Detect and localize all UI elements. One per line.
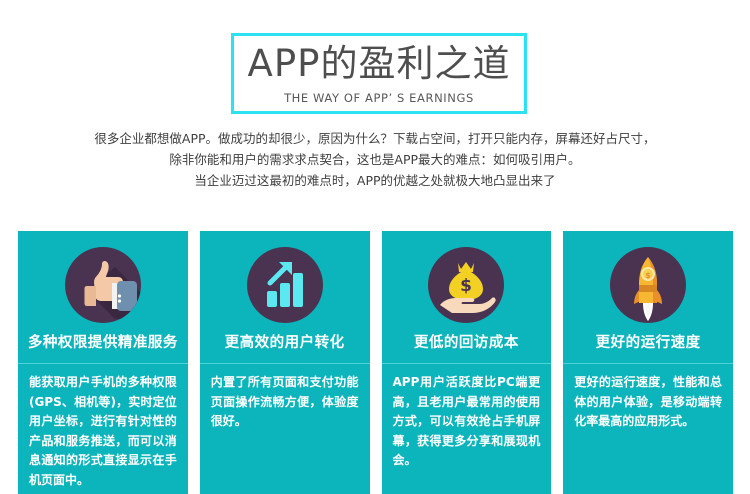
card-icon-holder [18, 231, 188, 327]
card-body: 更好的运行速度，性能和总体的用户体验，是移动端转化率最高的应用形式。 [563, 364, 733, 432]
feature-card[interactable]: $ 更低的回访成本 APP用户活跃度比PC端更高，且老用户最常用的使用方式，可以… [382, 231, 552, 494]
growth-chart-icon [247, 247, 323, 323]
svg-text:$: $ [460, 276, 472, 296]
svg-text:$: $ [645, 271, 651, 280]
card-icon-holder: $ [563, 231, 733, 327]
intro-line-1: 很多企业都想做APP。做成功的却很少，原因为什么？下载占空间，打开只能内存，屏幕… [0, 128, 750, 149]
card-heading: 更低的回访成本 [382, 333, 552, 353]
card-heading: 更高效的用户转化 [200, 333, 370, 353]
card-icon-holder [200, 231, 370, 327]
page-title-box: APP的盈利之道 THE WAY OF APP’ S EARNINGS [231, 33, 527, 114]
feature-card[interactable]: 更高效的用户转化 内置了所有页面和支付功能页面操作流畅方便，体验度很好。 [200, 231, 370, 494]
feature-card[interactable]: $ 更好的运行速度 更好的运行速度，性能和总体的用户体验，是移动端转化率最高的应… [563, 231, 733, 494]
page-subtitle: THE WAY OF APP’ S EARNINGS [284, 90, 474, 106]
card-icon-holder: $ [382, 231, 552, 327]
feature-card[interactable]: 多种权限提供精准服务 能获取用户手机的多种权限(GPS、相机等)，实时定位用户坐… [18, 231, 188, 494]
card-body: 内置了所有页面和支付功能页面操作流畅方便，体验度很好。 [200, 364, 370, 432]
card-heading: 多种权限提供精准服务 [18, 333, 188, 353]
rocket-icon: $ [610, 247, 686, 323]
intro-line-3: 当企业迈过这最初的难点时，APP的优越之处就极大地凸显出来了 [0, 170, 750, 191]
card-heading: 更好的运行速度 [563, 333, 733, 353]
card-body: 能获取用户手机的多种权限(GPS、相机等)，实时定位用户坐标，进行有针对性的产品… [18, 364, 188, 490]
page-title: APP的盈利之道 [248, 41, 511, 87]
card-body: APP用户活跃度比PC端更高，且老用户最常用的使用方式，可以有效抢占手机屏幕，获… [382, 364, 552, 471]
intro-line-2: 除非你能和用户的需求求点契合，这也是APP最大的难点：如何吸引用户。 [0, 149, 750, 170]
thumbs-up-icon [65, 247, 141, 323]
feature-card-list: 多种权限提供精准服务 能获取用户手机的多种权限(GPS、相机等)，实时定位用户坐… [18, 231, 733, 494]
money-bag-hand-icon: $ [428, 247, 504, 323]
intro-paragraph: 很多企业都想做APP。做成功的却很少，原因为什么？下载占空间，打开只能内存，屏幕… [0, 128, 750, 191]
